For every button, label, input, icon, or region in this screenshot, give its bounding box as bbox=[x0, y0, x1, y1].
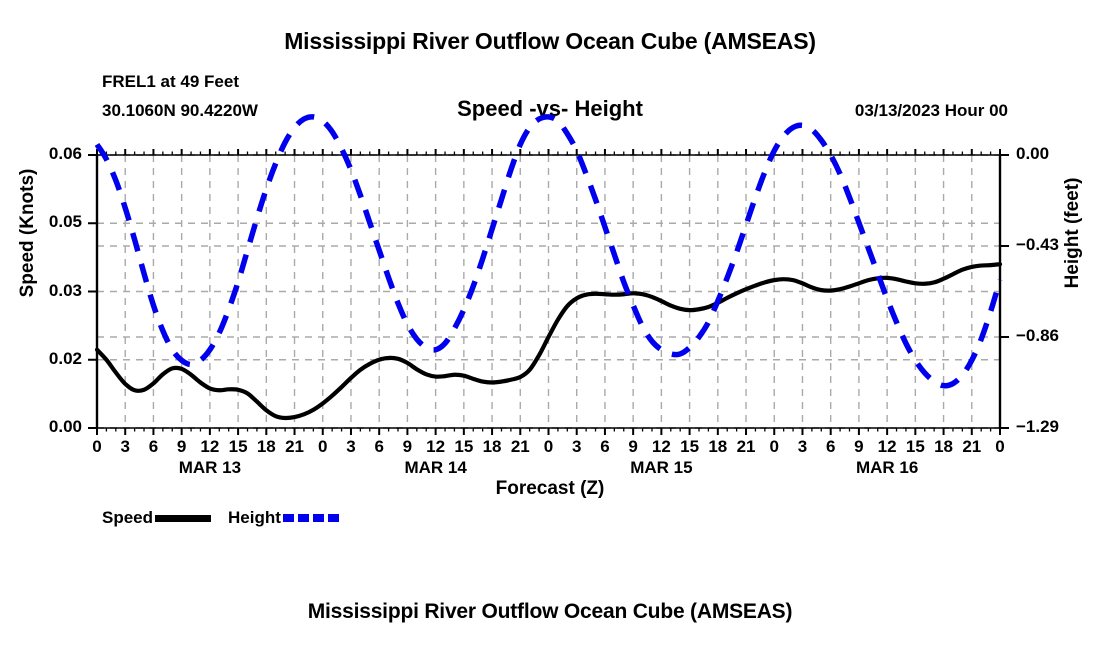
chart-page: Mississippi River Outflow Ocean Cube (AM… bbox=[0, 0, 1100, 650]
x-tick-label: 3 bbox=[787, 437, 817, 457]
x-tick-label: 6 bbox=[816, 437, 846, 457]
x-axis-day-label: MAR 16 bbox=[827, 458, 947, 478]
y-tick-label-left: 0.03 bbox=[12, 281, 82, 301]
x-tick-label: 0 bbox=[759, 437, 789, 457]
x-tick-label: 15 bbox=[675, 437, 705, 457]
x-tick-label: 21 bbox=[505, 437, 535, 457]
x-tick-label: 9 bbox=[392, 437, 422, 457]
x-tick-label: 15 bbox=[449, 437, 479, 457]
x-axis-day-label: MAR 14 bbox=[376, 458, 496, 478]
x-tick-label: 15 bbox=[223, 437, 253, 457]
x-tick-label: 12 bbox=[872, 437, 902, 457]
legend-swatch-speed-icon bbox=[155, 515, 211, 522]
x-tick-label: 18 bbox=[251, 437, 281, 457]
chart-canvas bbox=[0, 0, 1100, 650]
legend-label-speed: Speed bbox=[102, 508, 153, 528]
x-tick-label: 6 bbox=[590, 437, 620, 457]
x-tick-label: 18 bbox=[929, 437, 959, 457]
x-tick-label: 0 bbox=[985, 437, 1015, 457]
x-axis-day-label: MAR 13 bbox=[150, 458, 270, 478]
x-tick-label: 0 bbox=[82, 437, 112, 457]
x-tick-label: 6 bbox=[138, 437, 168, 457]
x-tick-label: 3 bbox=[336, 437, 366, 457]
legend-swatch-height-icon bbox=[283, 514, 339, 522]
x-tick-label: 0 bbox=[308, 437, 338, 457]
legend-item-height: Height bbox=[228, 508, 339, 528]
y-tick-label-left: 0.00 bbox=[12, 417, 82, 437]
footer-title: Mississippi River Outflow Ocean Cube (AM… bbox=[0, 600, 1100, 624]
x-tick-label: 18 bbox=[477, 437, 507, 457]
x-tick-label: 21 bbox=[280, 437, 310, 457]
y-tick-label-left: 0.06 bbox=[12, 144, 82, 164]
x-tick-label: 0 bbox=[534, 437, 564, 457]
y-tick-label-left: 0.05 bbox=[12, 212, 82, 232]
y-tick-label-right: 0.00 bbox=[1016, 144, 1086, 164]
x-tick-label: 9 bbox=[844, 437, 874, 457]
x-tick-label: 12 bbox=[195, 437, 225, 457]
legend-item-speed: Speed bbox=[102, 508, 211, 528]
x-tick-label: 18 bbox=[703, 437, 733, 457]
legend-label-height: Height bbox=[228, 508, 281, 528]
x-tick-label: 9 bbox=[618, 437, 648, 457]
x-tick-label: 3 bbox=[110, 437, 140, 457]
y-tick-label-left: 0.02 bbox=[12, 349, 82, 369]
x-tick-label: 21 bbox=[731, 437, 761, 457]
x-tick-label: 12 bbox=[646, 437, 676, 457]
y-tick-label-right: −0.86 bbox=[1016, 326, 1086, 346]
x-tick-label: 12 bbox=[421, 437, 451, 457]
x-axis-day-label: MAR 15 bbox=[601, 458, 721, 478]
x-tick-label: 15 bbox=[900, 437, 930, 457]
y-tick-label-right: −1.29 bbox=[1016, 417, 1086, 437]
x-tick-label: 6 bbox=[364, 437, 394, 457]
x-tick-label: 3 bbox=[562, 437, 592, 457]
x-tick-label: 21 bbox=[957, 437, 987, 457]
x-tick-label: 9 bbox=[167, 437, 197, 457]
y-tick-label-right: −0.43 bbox=[1016, 235, 1086, 255]
